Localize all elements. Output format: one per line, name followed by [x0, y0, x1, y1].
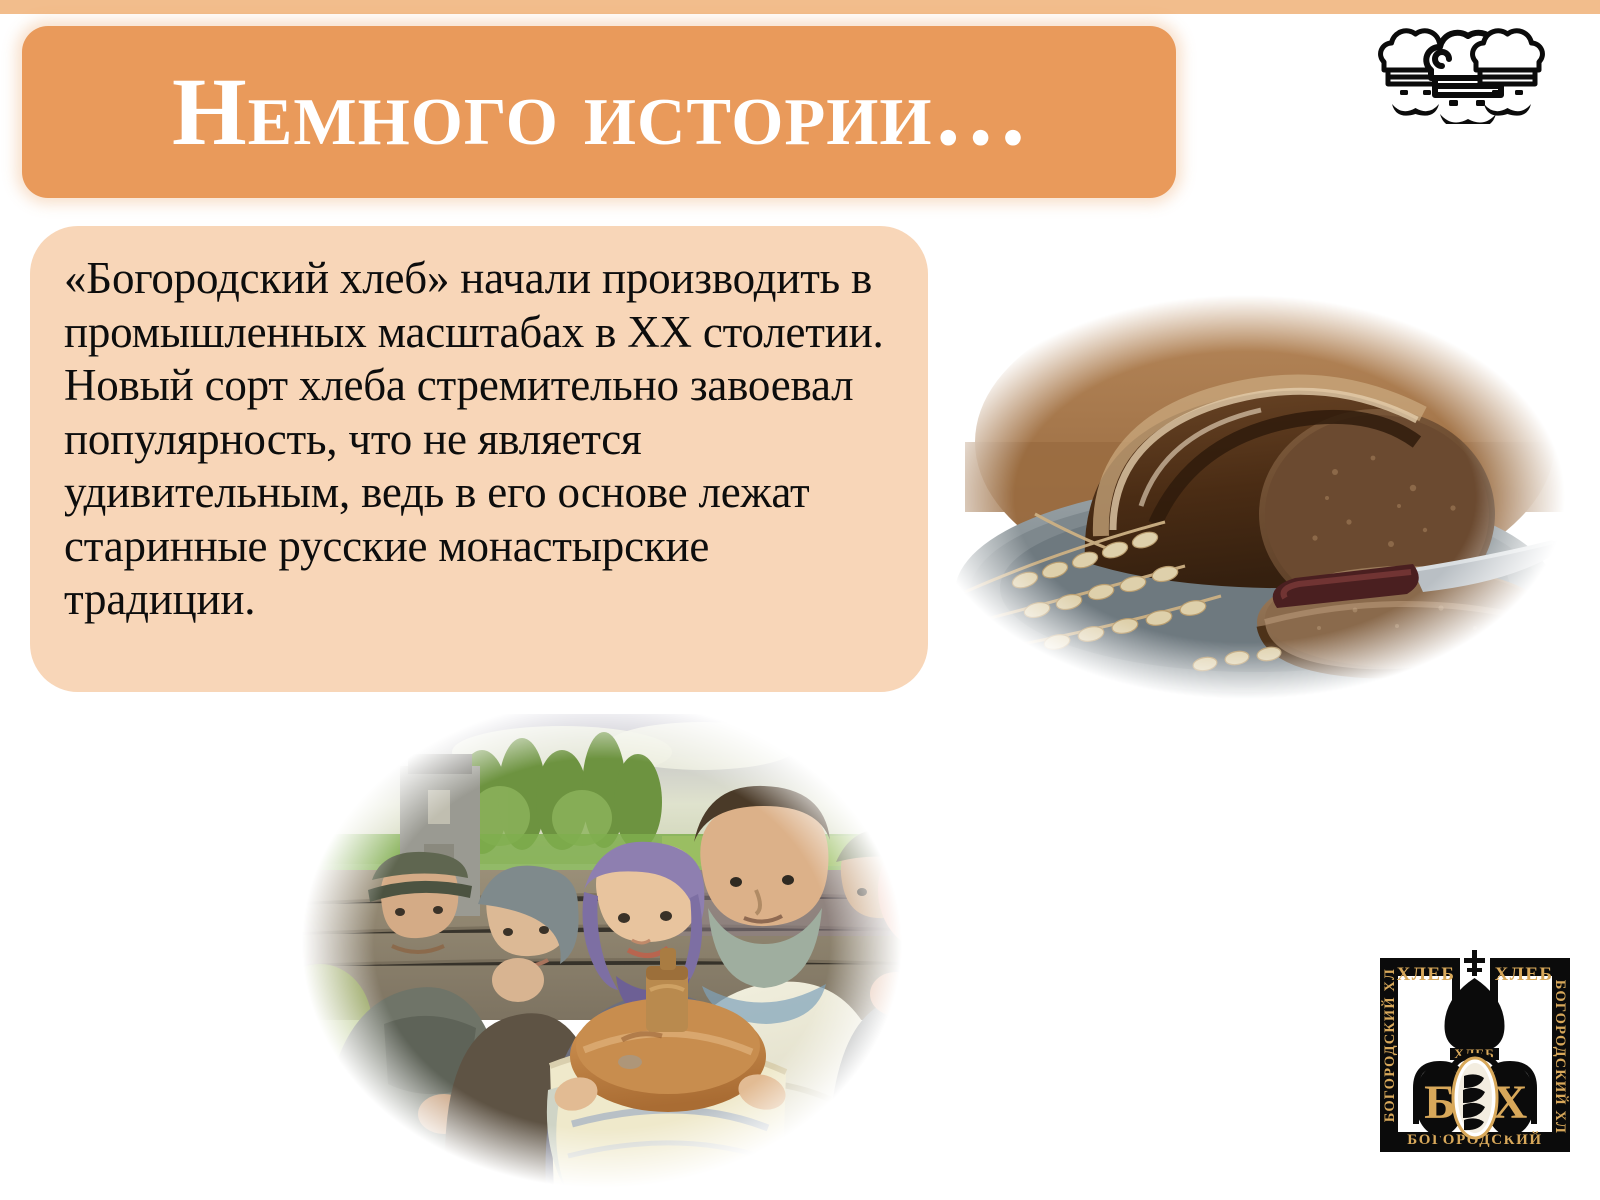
- body-paragraph: «Богородский хлеб» начали производить в …: [64, 252, 894, 627]
- logo-word-top-right: ХЛЕБ: [1495, 964, 1554, 985]
- logo-monogram-left: Б: [1424, 1076, 1456, 1129]
- bogorodsky-hleb-brand-logo: ХЛЕБ ХЛЕБ БОГОРОДСКИЙ ХЛЕБ БОГОРОДСКИЙ Х…: [1364, 936, 1586, 1166]
- rye-bread-image: [905, 292, 1585, 702]
- body-text-box: «Богородский хлеб» начали производить в …: [30, 226, 928, 692]
- three-chef-hats-icon: [1372, 24, 1548, 124]
- top-accent-strip: [0, 0, 1600, 14]
- slide-canvas: Немного истории…: [0, 0, 1600, 1200]
- logo-word-top-left: ХЛЕБ: [1397, 964, 1456, 985]
- page-title: Немного истории…: [172, 64, 1029, 160]
- bread-and-salt-painting-image: [232, 694, 972, 1194]
- title-bar: Немного истории…: [22, 26, 1176, 198]
